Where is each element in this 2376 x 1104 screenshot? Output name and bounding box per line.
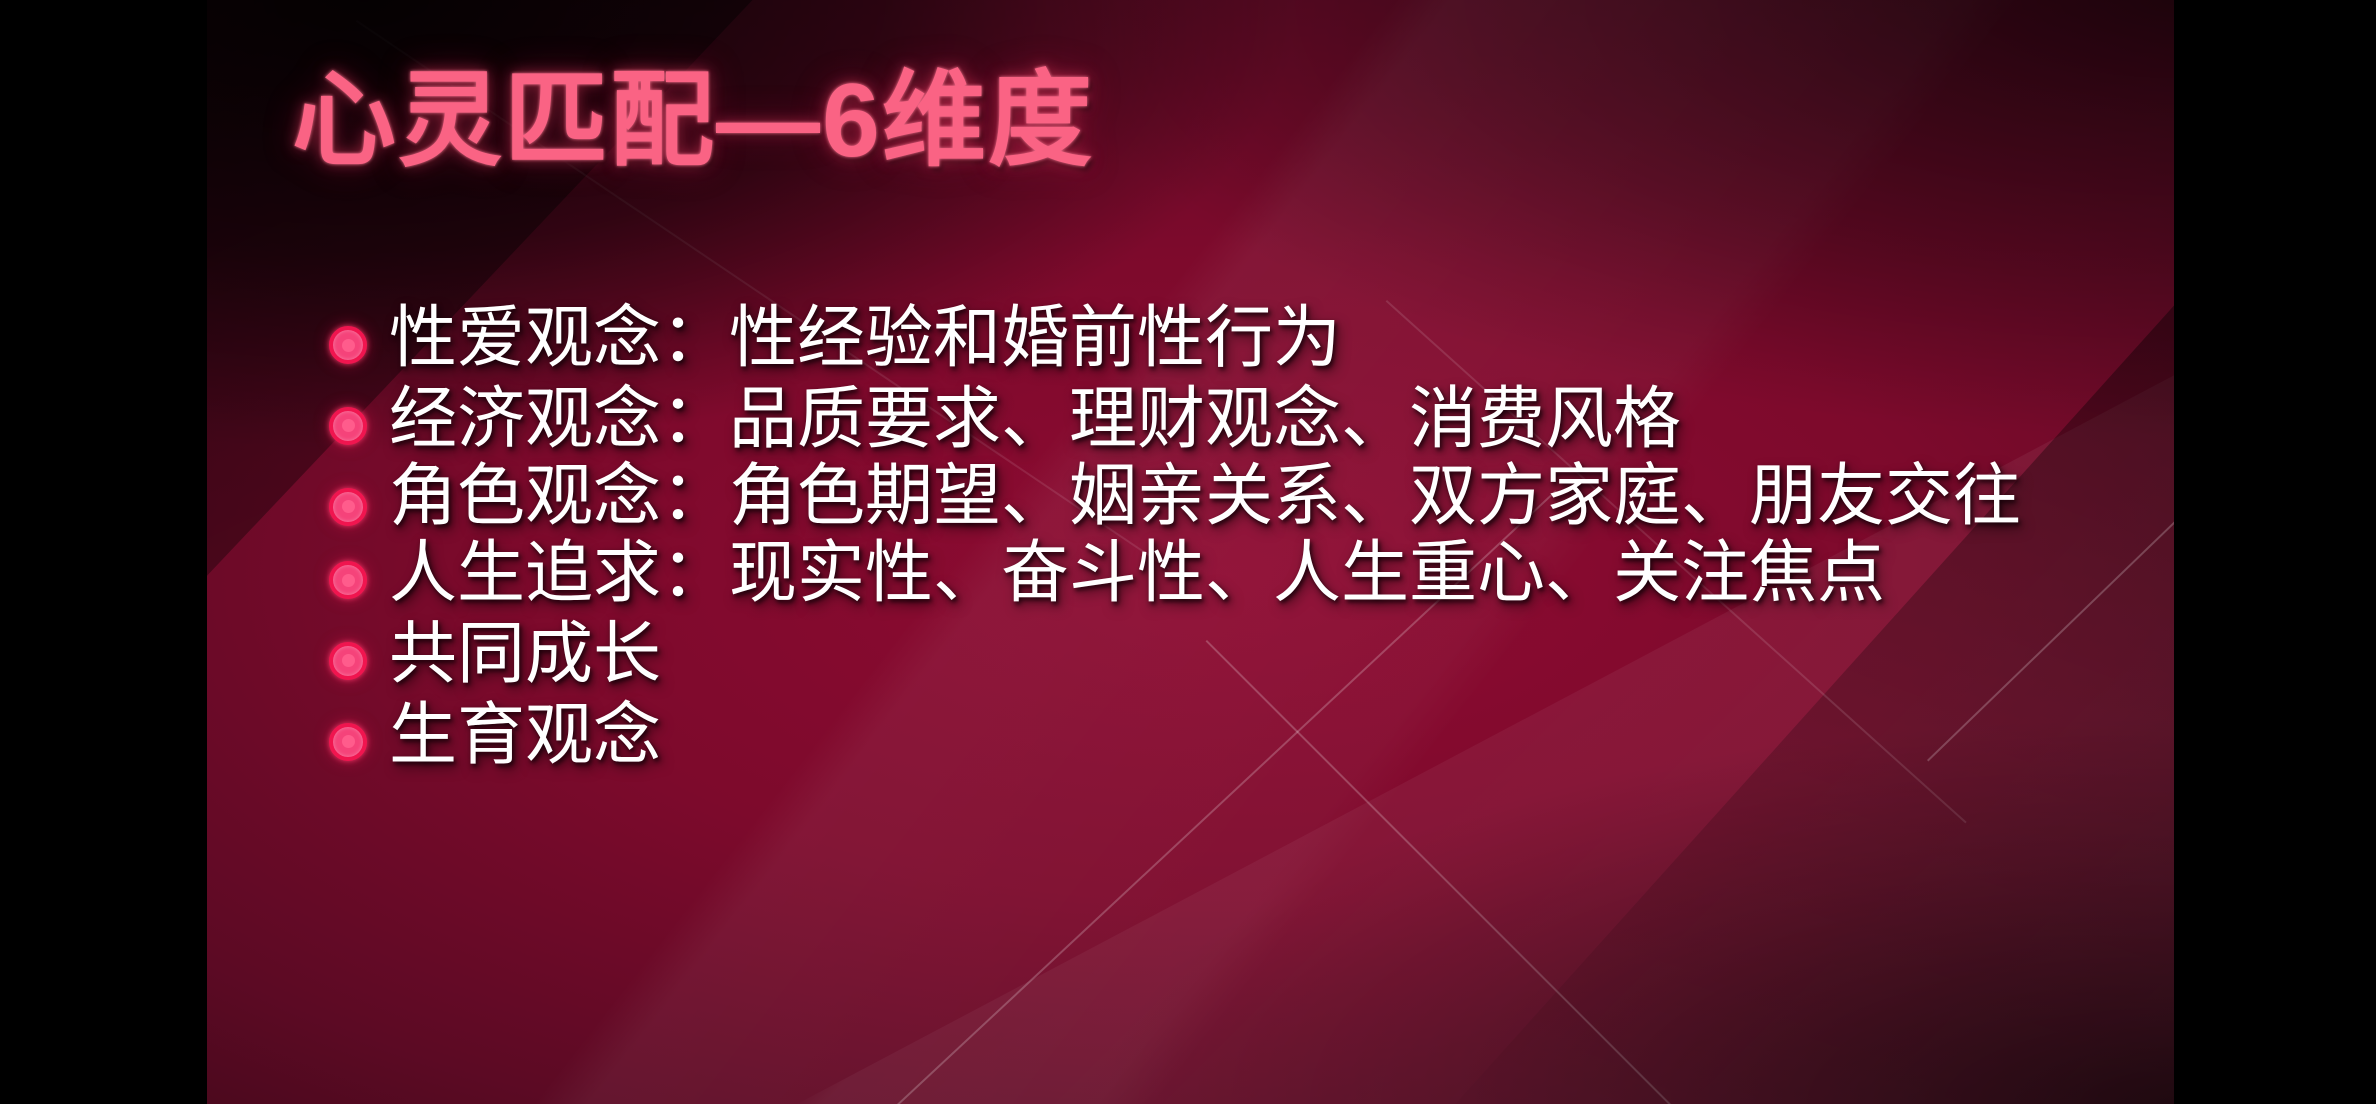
bullet-text-fertility-view: 生育观念 <box>389 697 2149 774</box>
bullet-text-economy-view: 经济观念：品质要求、理财观念、消费风格 <box>389 381 2149 458</box>
slide-bullet-list: 性爱观念：性经验和婚前性行为 经济观念：品质要求、理财观念、消费风格 角色观念：… <box>329 300 2149 778</box>
bullet-text-sex-view: 性爱观念：性经验和婚前性行为 <box>389 300 2149 377</box>
list-item: 共同成长 <box>329 616 2149 693</box>
list-item: 生育观念 <box>329 697 2149 774</box>
bullseye-icon <box>329 326 367 364</box>
letterbox-bar-left <box>0 0 207 1104</box>
presentation-screen: 心灵匹配—6维度 性爱观念：性经验和婚前性行为 经济观念：品质要求、理财观念、消… <box>0 0 2376 1104</box>
bullseye-icon <box>329 488 367 526</box>
bullseye-icon <box>329 407 367 445</box>
letterbox-bar-right <box>2174 0 2376 1104</box>
list-item: 角色观念：角色期望、姻亲关系、双方家庭、朋友交往 <box>329 462 2149 531</box>
list-item: 经济观念：品质要求、理财观念、消费风格 <box>329 381 2149 458</box>
bullseye-icon <box>329 723 367 761</box>
bullet-text-role-view: 角色观念：角色期望、姻亲关系、双方家庭、朋友交往 <box>389 462 2149 531</box>
bullseye-icon <box>329 642 367 680</box>
list-item: 人生追求：现实性、奋斗性、人生重心、关注焦点 <box>329 535 2149 612</box>
slide-title: 心灵匹配—6维度 <box>292 62 1094 182</box>
slide-canvas: 心灵匹配—6维度 性爱观念：性经验和婚前性行为 经济观念：品质要求、理财观念、消… <box>207 0 2174 1104</box>
bullet-text-grow-together: 共同成长 <box>389 616 2149 693</box>
bullet-text-life-pursuit: 人生追求：现实性、奋斗性、人生重心、关注焦点 <box>389 535 2149 612</box>
bullseye-icon <box>329 561 367 599</box>
list-item: 性爱观念：性经验和婚前性行为 <box>329 300 2149 377</box>
